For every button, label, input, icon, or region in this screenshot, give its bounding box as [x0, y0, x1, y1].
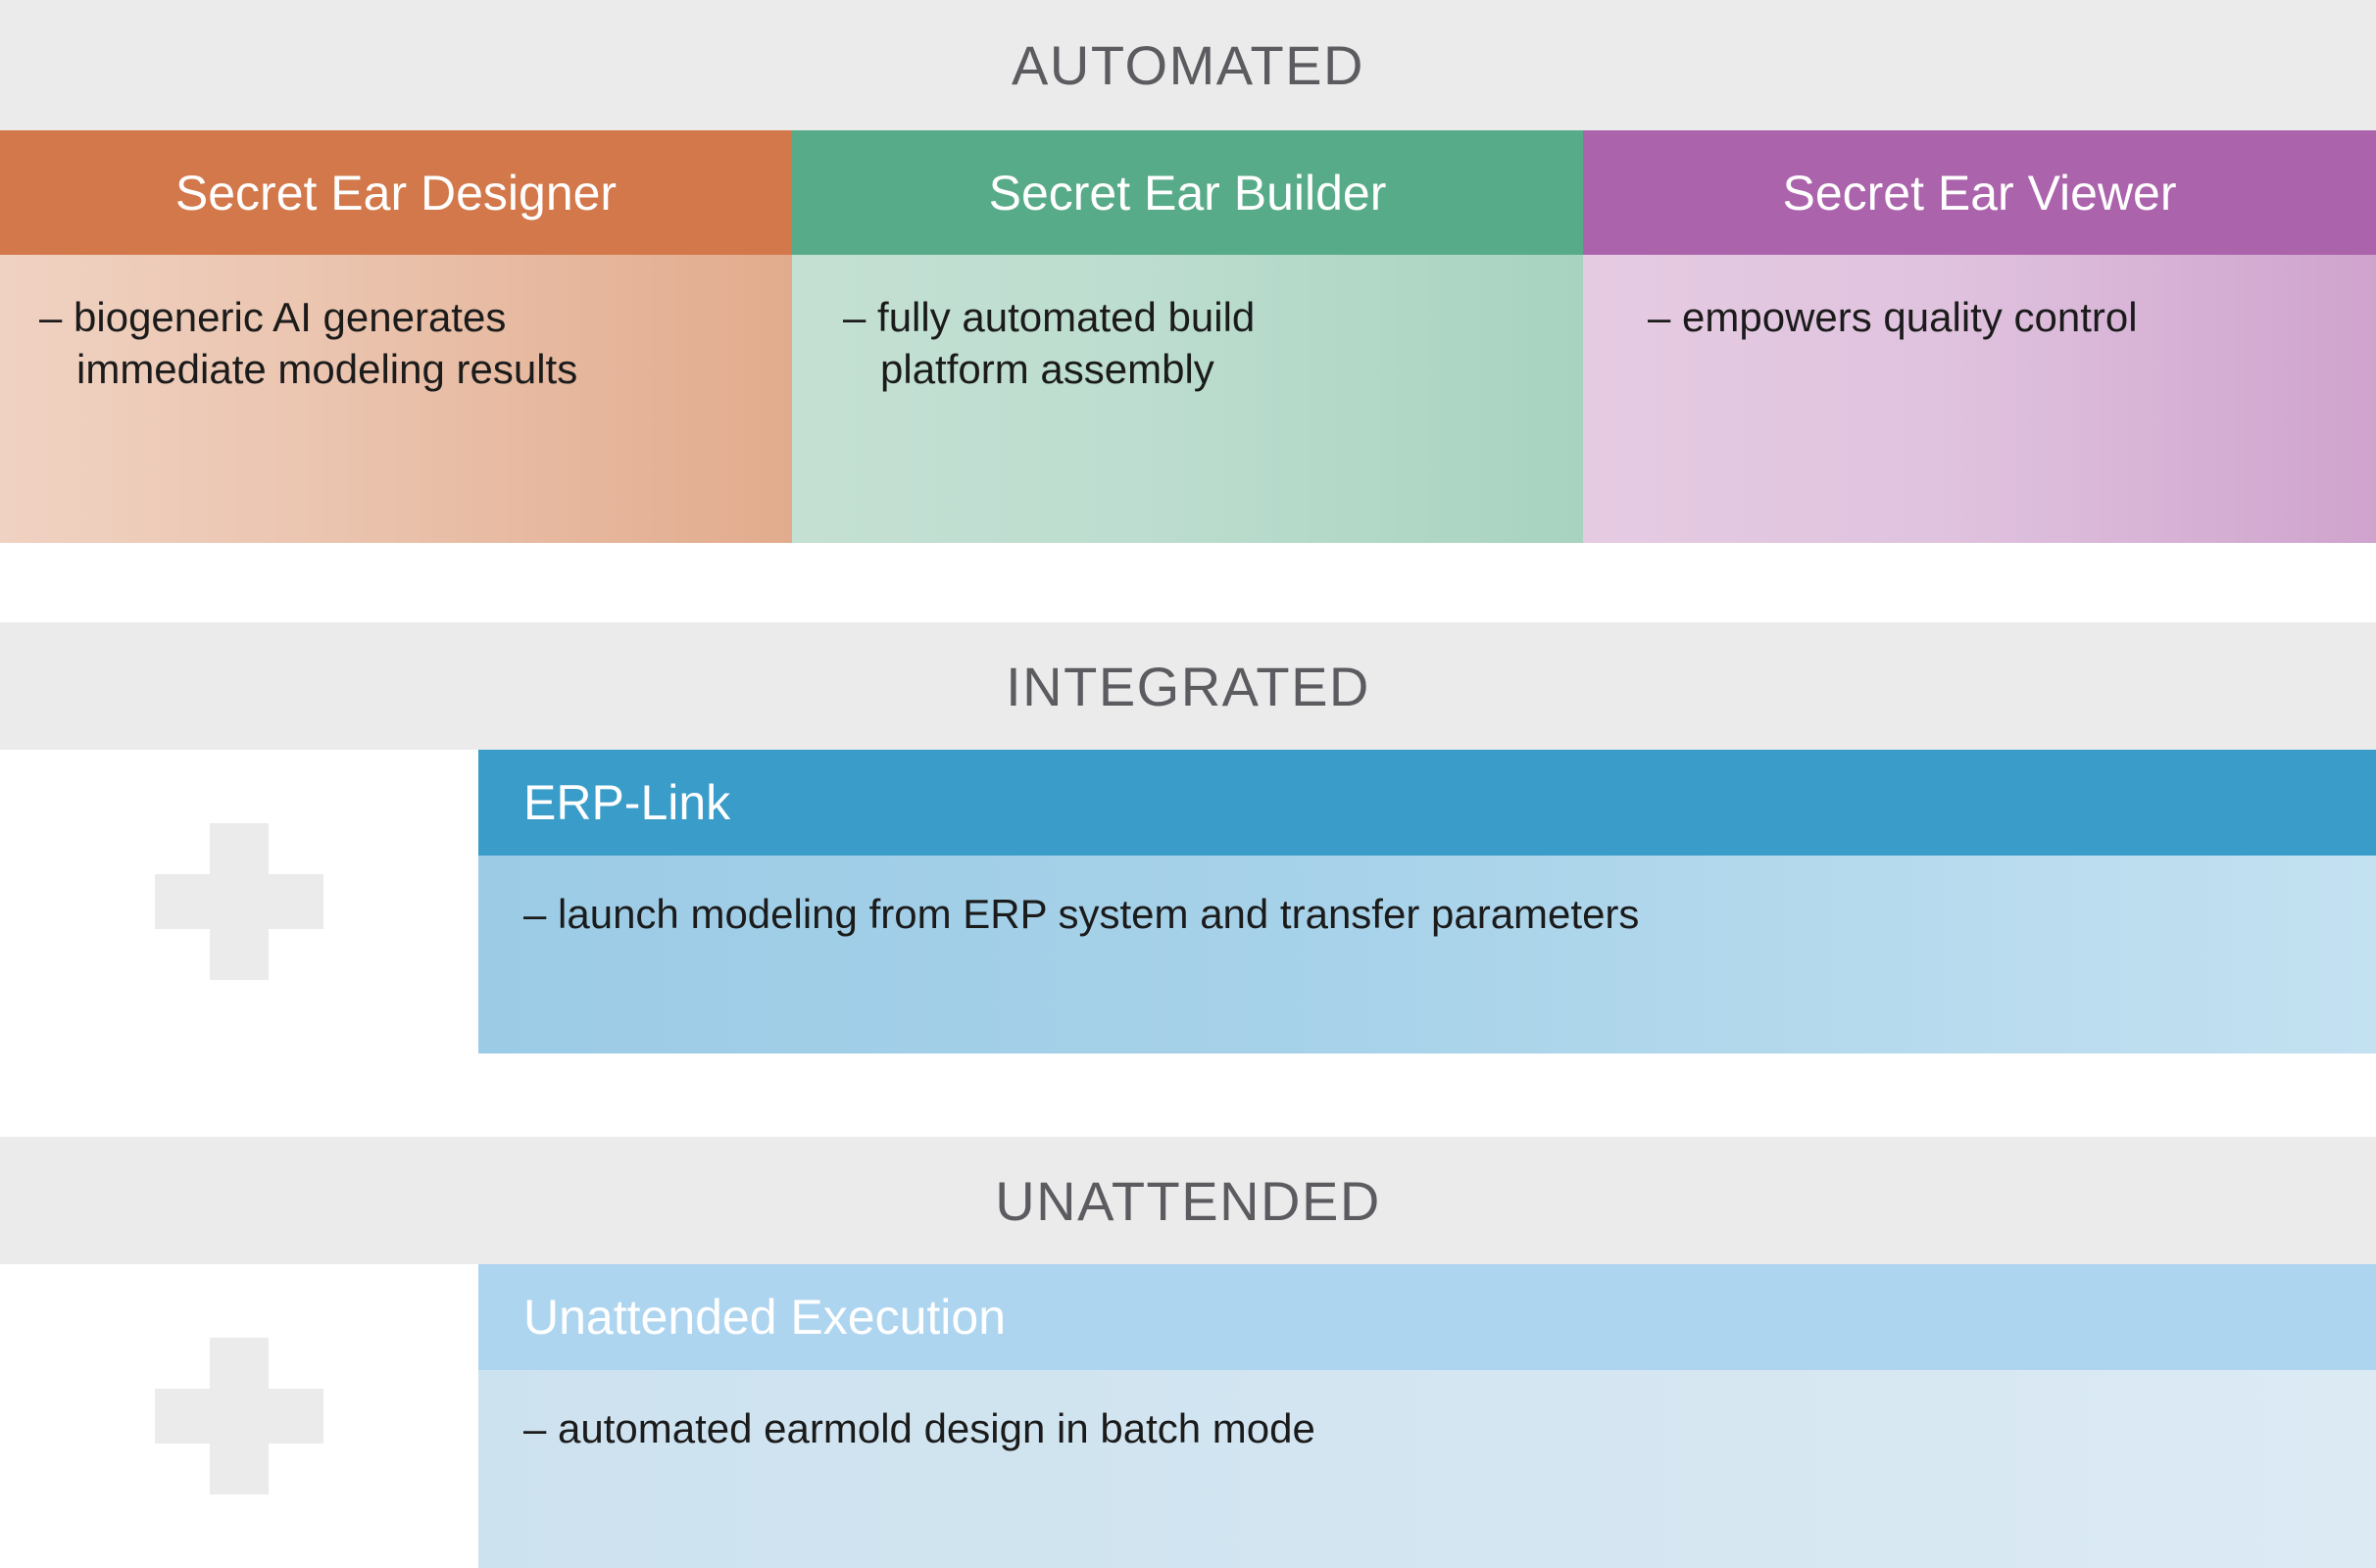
module-header-unattended-execution: Unattended Execution	[478, 1264, 2376, 1370]
product-name-builder: Secret Ear Builder	[989, 165, 1387, 221]
product-body-viewer: – empowers quality control	[1583, 255, 2376, 543]
section-integrated: INTEGRATED ERP-Link – launch modeling fr…	[0, 622, 2376, 1053]
bullet-designer-line1: – biogeneric AI generates	[39, 294, 506, 340]
module-panel-erp-link[interactable]: ERP-Link – launch modeling from ERP syst…	[478, 750, 2376, 1053]
product-name-viewer: Secret Ear Viewer	[1782, 165, 2176, 221]
bullet-viewer-line1: – empowers quality control	[1648, 294, 2138, 340]
section-title-automated: AUTOMATED	[1012, 33, 1364, 97]
module-name-unattended-execution: Unattended Execution	[478, 1289, 1006, 1346]
bullet-builder-line1: – fully automated build	[843, 294, 1255, 340]
module-header-erp-link: ERP-Link	[478, 750, 2376, 856]
product-name-designer: Secret Ear Designer	[175, 165, 617, 221]
plus-icon	[155, 1338, 323, 1494]
unattended-row: Unattended Execution – automated earmold…	[0, 1264, 2376, 1568]
module-body-erp-link: – launch modeling from ERP system and tr…	[478, 856, 2376, 1053]
bullet-builder-line2: platform assembly	[843, 344, 1540, 396]
product-column-viewer[interactable]: Secret Ear Viewer – empowers quality con…	[1583, 130, 2376, 543]
bullet-designer-line2: immediate modeling results	[39, 344, 749, 396]
plus-icon-horizontal-bar	[155, 874, 323, 929]
plus-cell-integrated	[0, 750, 478, 1053]
plus-icon	[155, 823, 323, 980]
section-unattended: UNATTENDED Unattended Execution – automa…	[0, 1137, 2376, 1568]
section-title-band-integrated: INTEGRATED	[0, 622, 2376, 750]
product-body-designer: – biogeneric AI generates immediate mode…	[0, 255, 792, 543]
product-column-designer[interactable]: Secret Ear Designer – biogeneric AI gene…	[0, 130, 792, 543]
section-title-band-automated: AUTOMATED	[0, 0, 2376, 130]
plus-cell-unattended	[0, 1264, 478, 1568]
section-title-integrated: INTEGRATED	[1006, 655, 1370, 718]
module-name-erp-link: ERP-Link	[478, 774, 730, 831]
bullet-unattended-execution: – automated earmold design in batch mode	[478, 1370, 1315, 1455]
bullet-designer: – biogeneric AI generates immediate mode…	[39, 292, 749, 395]
module-panel-unattended-execution[interactable]: Unattended Execution – automated earmold…	[478, 1264, 2376, 1568]
bullet-erp-link: – launch modeling from ERP system and tr…	[478, 856, 1639, 941]
bullet-viewer: – empowers quality control	[1648, 292, 2333, 344]
bullet-builder: – fully automated build platform assembl…	[843, 292, 1540, 395]
integrated-row: ERP-Link – launch modeling from ERP syst…	[0, 750, 2376, 1053]
section-title-unattended: UNATTENDED	[995, 1169, 1381, 1233]
product-header-designer: Secret Ear Designer	[0, 130, 792, 255]
section-title-band-unattended: UNATTENDED	[0, 1137, 2376, 1264]
product-header-builder: Secret Ear Builder	[792, 130, 1583, 255]
module-body-unattended-execution: – automated earmold design in batch mode	[478, 1370, 2376, 1568]
section-automated: AUTOMATED Secret Ear Designer – biogener…	[0, 0, 2376, 543]
product-header-viewer: Secret Ear Viewer	[1583, 130, 2376, 255]
slide-canvas: AUTOMATED Secret Ear Designer – biogener…	[0, 0, 2376, 1568]
product-column-builder[interactable]: Secret Ear Builder – fully automated bui…	[792, 130, 1583, 543]
product-body-builder: – fully automated build platform assembl…	[792, 255, 1583, 543]
plus-icon-horizontal-bar	[155, 1389, 323, 1444]
